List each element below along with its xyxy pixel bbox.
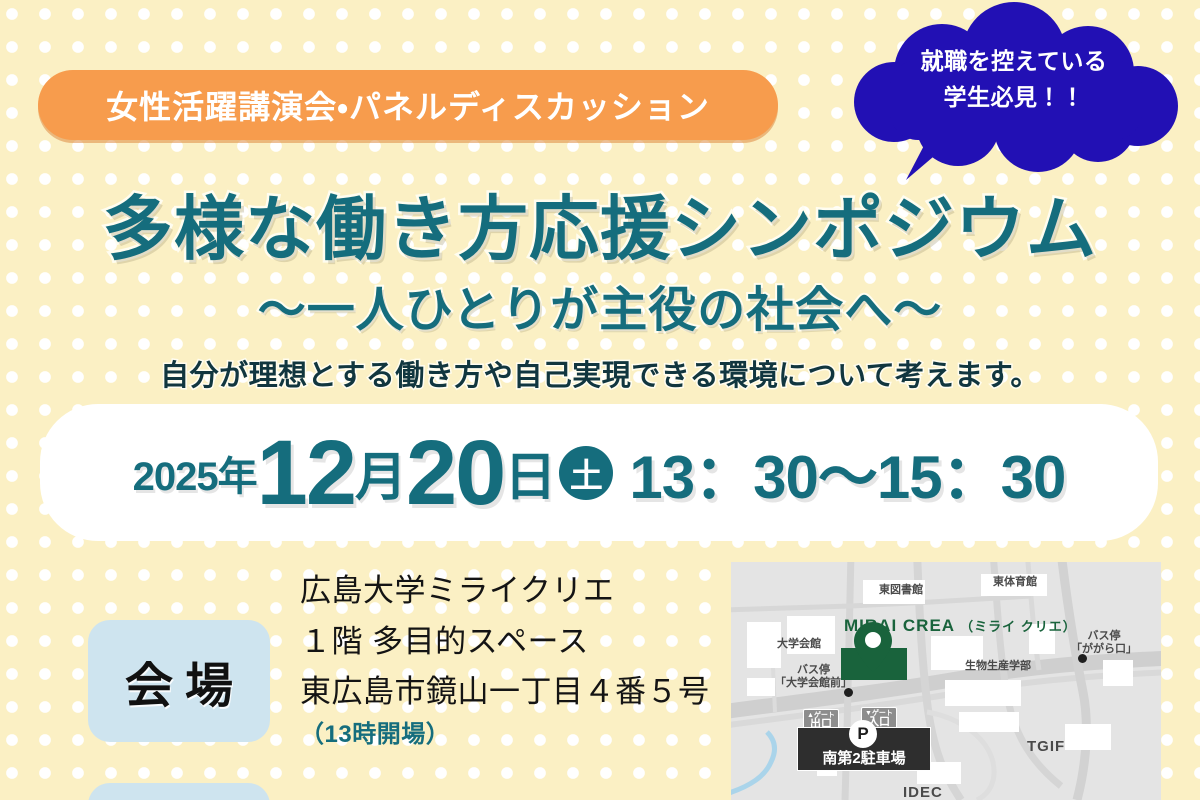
category-ribbon: 女性活躍講演会・パネルディスカッション xyxy=(38,70,778,140)
map-label-east-gym: 東体育館 xyxy=(993,576,1037,589)
main-title: 多様な働き方応援シンポジウム xyxy=(0,192,1200,268)
date-weekday-badge: 土 xyxy=(559,446,613,500)
event-time: 13：30〜15：30 xyxy=(629,429,1065,516)
venue-line-2: １階 多目的スペース xyxy=(300,617,720,668)
bus-univ-hall-line-1: バス停 xyxy=(797,664,830,676)
date-month: 12 xyxy=(257,427,355,519)
date-year: 2025年 xyxy=(133,444,257,502)
bus-stop-dot-gagara xyxy=(1078,654,1087,663)
venue-line-3: 東広島市鏡山一丁目４番５号 xyxy=(300,667,720,718)
map-label-idec: IDEC xyxy=(903,784,943,800)
map-label-east-library: 東図書館 xyxy=(879,584,923,597)
venue-line-1: 広島大学ミライクリエ xyxy=(300,566,720,617)
cloud-line-2: 学生必見！！ xyxy=(838,80,1190,116)
cloud-line-1: 就職を控えている xyxy=(838,44,1190,80)
venue-badge: 会場 xyxy=(88,620,270,742)
venue-details: 広島大学ミライクリエ １階 多目的スペース 東広島市鏡山一丁目４番５号 （13時… xyxy=(300,566,720,751)
date-day-unit: 日 xyxy=(504,435,555,510)
map-label-univ-hall: 大学会館 xyxy=(777,638,821,651)
venue-open-note: （13時開場） xyxy=(300,718,720,752)
mirai-crea-latin: MIRAI CREA xyxy=(844,616,954,635)
speech-bubble: 就職を控えている 学生必見！！ xyxy=(838,2,1190,180)
map-label-bus-univ-hall: バス停 「大学会館前」 xyxy=(775,664,852,690)
location-map[interactable]: 東図書館 東体育館 大学会館 バス停 「大学会館前」 バス停 「ががら口」 生物… xyxy=(731,562,1161,800)
secondary-badge xyxy=(88,783,270,800)
bus-stop-dot-univ-hall xyxy=(844,688,853,697)
parking-p-icon: P xyxy=(849,720,877,748)
cloud-text: 就職を控えている 学生必見！！ xyxy=(838,44,1190,115)
event-poster: 女性活躍講演会・パネルディスカッション 就職を控えている 学生必見！！ 多様な働 xyxy=(0,0,1200,800)
venue-badge-label: 会場 xyxy=(113,646,245,716)
map-label-mirai-crea: MIRAI CREA （ミライ クリエ） xyxy=(844,616,1077,636)
tagline: 自分が理想とする働き方や自己実現できる環境について考えます。 xyxy=(0,352,1200,394)
title-block: 多様な働き方応援シンポジウム 〜一人ひとりが主役の社会へ〜 自分が理想とする働き… xyxy=(0,192,1200,394)
mirai-crea-jp: （ミライ クリエ） xyxy=(960,619,1077,634)
map-label-tgif: TGIF xyxy=(1027,738,1065,755)
bus-univ-hall-line-2: 「大学会館前」 xyxy=(775,677,852,689)
date-day: 20 xyxy=(406,427,504,519)
date-time-bar: 2025年 12 月 20 日 土 13：30〜15：30 xyxy=(40,404,1158,541)
sub-title: 〜一人ひとりが主役の社会へ〜 xyxy=(0,270,1200,340)
bus-gagara-line-1: バス停 xyxy=(1088,630,1121,642)
ribbon-label: 女性活躍講演会・パネルディスカッション xyxy=(106,82,710,128)
map-label-bus-gagara: バス停 「ががら口」 xyxy=(1071,630,1137,656)
parking-label: 南第2駐車場 xyxy=(822,747,905,768)
map-label-bio-faculty: 生物生産学部 xyxy=(965,660,1031,673)
date-month-unit: 月 xyxy=(355,435,406,510)
